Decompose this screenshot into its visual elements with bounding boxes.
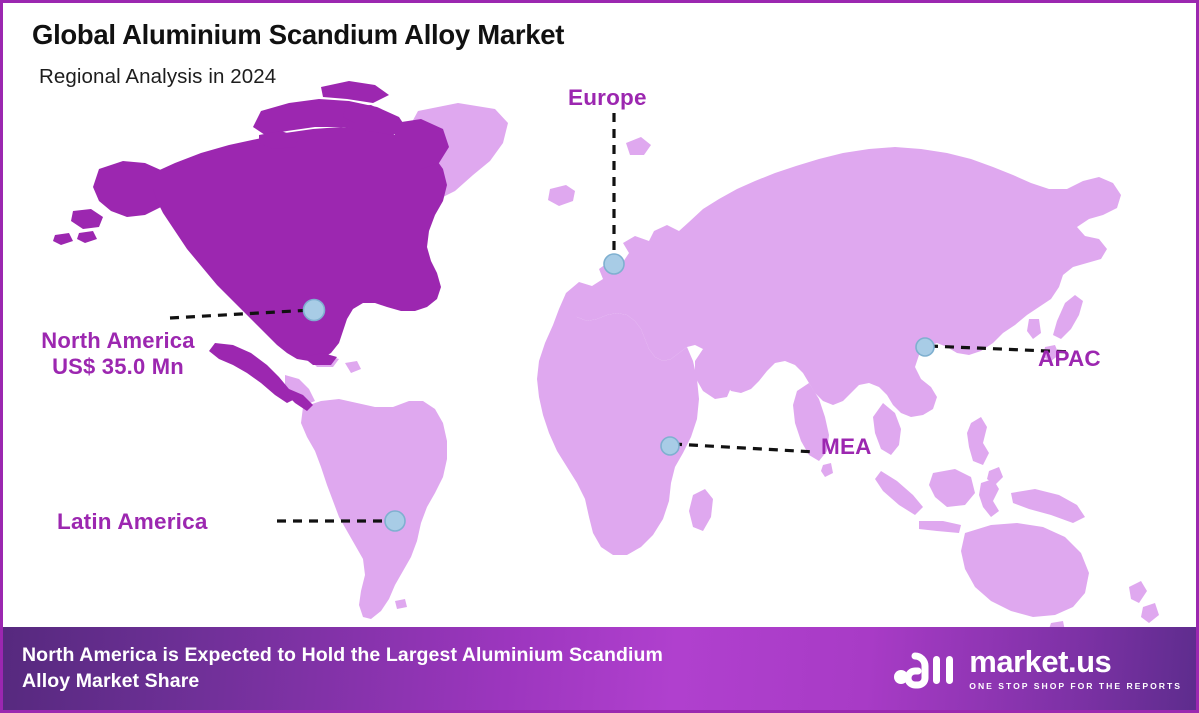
- infographic-canvas: Global Aluminium Scandium Alloy Market R…: [0, 0, 1199, 713]
- marker-north-america[interactable]: [304, 300, 325, 321]
- page-subtitle: Regional Analysis in 2024: [39, 65, 276, 89]
- region-label-mea[interactable]: MEA: [821, 434, 872, 460]
- marker-latin-america[interactable]: [385, 511, 405, 531]
- region-label-latin-america-text: Latin America: [57, 509, 208, 535]
- logo-name: market.us: [969, 646, 1111, 677]
- region-label-mea-text: MEA: [821, 434, 872, 460]
- brand-logo[interactable]: market.us ONE STOP SHOP FOR THE REPORTS: [889, 644, 1199, 694]
- region-label-europe-text: Europe: [568, 85, 647, 111]
- logo-text-block: market.us ONE STOP SHOP FOR THE REPORTS: [969, 646, 1182, 691]
- market-us-logo-icon: [889, 644, 957, 694]
- footer-banner: North America is Expected to Hold the La…: [3, 627, 1199, 710]
- leader-line-north-america: [170, 310, 312, 318]
- region-markers: [304, 254, 935, 531]
- region-value-north-america: US$ 35.0 Mn: [38, 354, 198, 380]
- marker-mea[interactable]: [661, 437, 679, 455]
- marker-apac[interactable]: [916, 338, 934, 356]
- page-title: Global Aluminium Scandium Alloy Market: [32, 19, 564, 51]
- region-label-europe[interactable]: Europe: [568, 85, 647, 111]
- footer-headline-line2: Alloy Market Share: [22, 669, 663, 695]
- region-label-north-america[interactable]: North America US$ 35.0 Mn: [38, 328, 198, 379]
- leader-line-mea: [673, 444, 815, 452]
- region-label-latin-america[interactable]: Latin America: [57, 509, 208, 535]
- footer-headline: North America is Expected to Hold the La…: [3, 643, 663, 694]
- region-label-apac[interactable]: APAC: [1038, 346, 1101, 372]
- marker-europe[interactable]: [604, 254, 624, 274]
- footer-headline-line1: North America is Expected to Hold the La…: [22, 643, 663, 669]
- region-label-apac-text: APAC: [1038, 346, 1101, 372]
- logo-tagline: ONE STOP SHOP FOR THE REPORTS: [969, 681, 1182, 691]
- region-label-north-america-text: North America: [38, 328, 198, 354]
